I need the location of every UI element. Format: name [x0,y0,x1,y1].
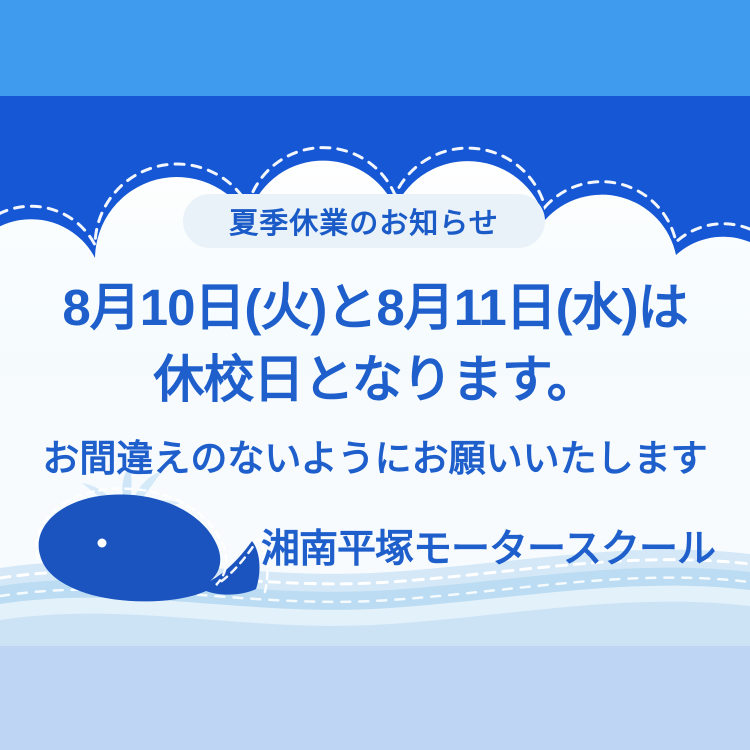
sky-band-top [0,0,750,96]
headline-line-2: 休校日となります。 [0,344,750,416]
company-name: 湘南平塚モータースクール [261,528,715,571]
note-text: お間違えのないようにお願いいたします [0,428,750,482]
badge-label: 夏季休業のお知らせ [229,200,498,242]
note-block: お間違えのないようにお願いいたします [0,428,750,482]
page-title: 8月10日(火)と8月11日(水)は 休校日となります。 [0,272,750,416]
footer-band [0,646,750,750]
status-badge: 夏季休業のお知らせ [183,194,545,248]
company-block: 湘南平塚モータースクール [0,518,750,574]
announcement-poster: 夏季休業のお知らせ 8月10日(火)と8月11日(水)は 休校日となります。 お… [0,0,750,750]
headline-line-1: 8月10日(火)と8月11日(水)は [0,272,750,344]
